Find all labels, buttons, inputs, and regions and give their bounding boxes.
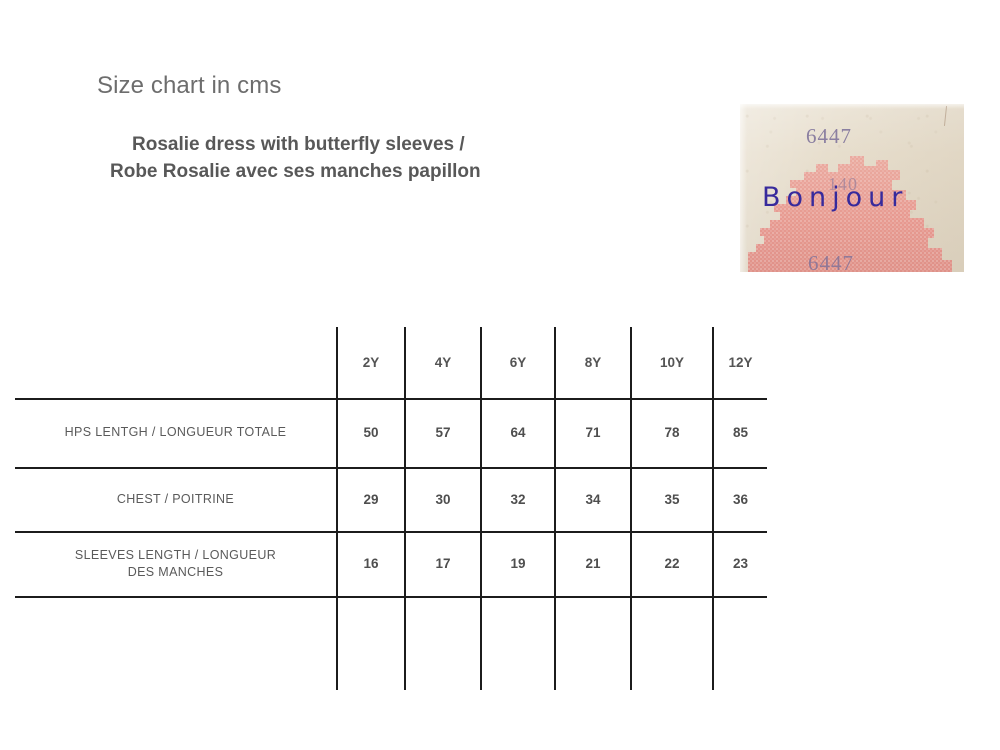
table-cell-hps-2y: 50	[338, 398, 404, 467]
table-cell-sleeves-12y: 23	[714, 531, 767, 596]
table-header-10y: 10Y	[632, 327, 712, 398]
table-header-8y: 8Y	[556, 327, 630, 398]
table-cell-chest-12y: 36	[714, 467, 767, 531]
table-cell-chest-4y: 30	[406, 467, 480, 531]
table-cell-empty-8y	[556, 596, 630, 690]
table-row-label-empty	[15, 596, 336, 690]
table-cell-sleeves-10y: 22	[632, 531, 712, 596]
table-row-label-chest: CHEST / POITRINE	[15, 467, 336, 531]
bonjour-wordmark: Bonjour	[762, 182, 908, 213]
table-cell-sleeves-8y: 21	[556, 531, 630, 596]
table-cell-empty-12y	[714, 596, 767, 690]
table-header-2y: 2Y	[338, 327, 404, 398]
table-cell-chest-8y: 34	[556, 467, 630, 531]
table-cell-hps-6y: 64	[482, 398, 554, 467]
brand-label-image: 6447 140 Bonjour 6447	[740, 104, 964, 272]
table-cell-chest-10y: 35	[632, 467, 712, 531]
size-chart-table: 2Y 4Y 6Y 8Y 10Y 12Y HPS LENTGH / LONGUEU…	[15, 327, 767, 690]
table-cell-chest-2y: 29	[338, 467, 404, 531]
table-row-label-hps-length: HPS LENTGH / LONGUEUR TOTALE	[15, 398, 336, 467]
product-subtitle: Rosalie dress with butterfly sleeves / R…	[110, 131, 481, 185]
paper-top-edge	[740, 104, 964, 109]
table-cell-sleeves-6y: 19	[482, 531, 554, 596]
table-header-12y: 12Y	[714, 327, 767, 398]
table-header-6y: 6Y	[482, 327, 554, 398]
table-cell-sleeves-4y: 17	[406, 531, 480, 596]
table-row-label-sleeves-length: SLEEVES LENGTH / LONGUEUR DES MANCHES	[15, 531, 336, 596]
table-cell-chest-6y: 32	[482, 467, 554, 531]
product-subtitle-line-1: Rosalie dress with butterfly sleeves /	[110, 131, 481, 158]
stamp-number-top: 6447	[806, 124, 852, 149]
table-cell-empty-6y	[482, 596, 554, 690]
table-cell-empty-2y	[338, 596, 404, 690]
table-cell-sleeves-2y: 16	[338, 531, 404, 596]
stamp-number-bottom: 6447	[808, 251, 854, 272]
page-title: Size chart in cms	[97, 72, 281, 100]
table-cell-hps-12y: 85	[714, 398, 767, 467]
table-row-label-sleeves-line-1: SLEEVES LENGTH / LONGUEUR	[75, 547, 276, 564]
table-header-4y: 4Y	[406, 327, 480, 398]
table-cell-hps-8y: 71	[556, 398, 630, 467]
product-subtitle-line-2: Robe Rosalie avec ses manches papillon	[110, 158, 481, 185]
table-cell-empty-10y	[632, 596, 712, 690]
table-cell-hps-10y: 78	[632, 398, 712, 467]
table-row-label-sleeves-line-2: DES MANCHES	[128, 564, 224, 581]
paper-left-edge	[740, 104, 747, 272]
table-cell-empty-4y	[406, 596, 480, 690]
table-cell-hps-4y: 57	[406, 398, 480, 467]
